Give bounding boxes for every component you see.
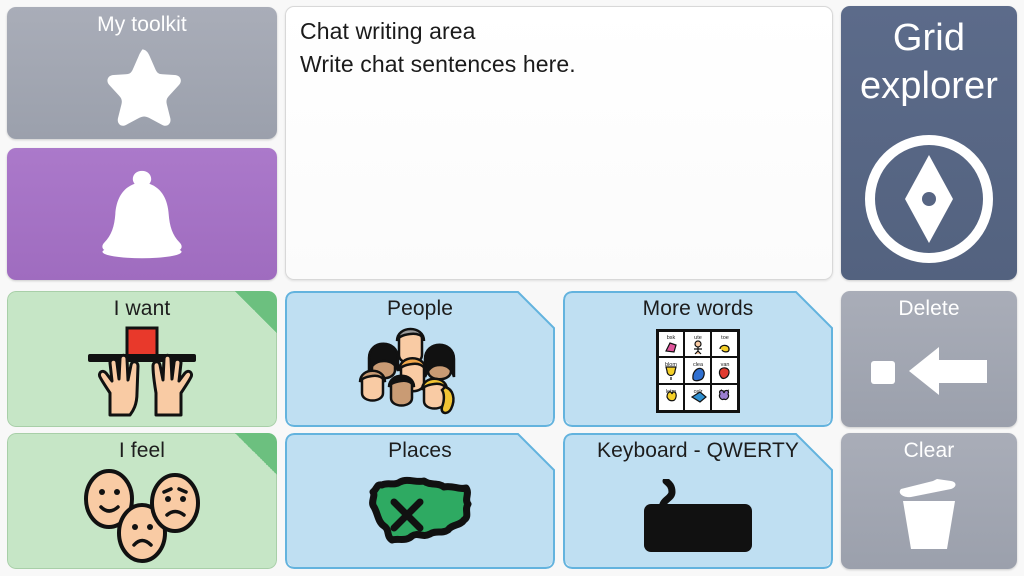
keyboard-icon (563, 471, 833, 563)
cell-label-delete: Delete (841, 296, 1017, 322)
cell-label-places: Places (285, 438, 555, 464)
compass-icon (841, 124, 1017, 274)
svg-text:ute: ute (694, 335, 702, 341)
cell-delete[interactable]: Delete (841, 291, 1017, 427)
cell-clear[interactable]: Clear (841, 433, 1017, 569)
cell-more-words[interactable]: More words bskutetoe blomcleavan letmoxl… (563, 291, 833, 427)
cell-keyboard-qwerty[interactable]: Keyboard - QWERTY (563, 433, 833, 569)
trash-bin-icon (841, 467, 1017, 559)
cell-label-grid-explorer-line1: Grid (841, 14, 1017, 62)
cell-i-want[interactable]: I want (7, 291, 277, 427)
cell-label-grid-explorer-line2: explorer (841, 62, 1017, 110)
cell-places[interactable]: Places (285, 433, 555, 569)
cell-label-more-words: More words (563, 296, 833, 322)
chat-text: Write chat sentences here. (300, 48, 818, 81)
cell-grid-explorer[interactable]: Grid explorer (841, 6, 1017, 280)
aac-grid-page: My toolkit Chat writing area Write chat … (0, 0, 1024, 576)
chat-title: Chat writing area (300, 15, 818, 48)
want-hands-icon (7, 321, 277, 421)
people-faces-icon (285, 319, 555, 423)
cell-i-feel[interactable]: I feel (7, 433, 277, 569)
grid-3x3-icon: bskutetoe blomcleavan letmoxlrlovt (563, 325, 833, 417)
svg-text:bsk: bsk (667, 335, 676, 341)
cell-label-clear: Clear (841, 438, 1017, 464)
map-x-icon (285, 465, 555, 561)
cell-alert-bell[interactable] (7, 148, 277, 280)
cell-label-keyboard-qwerty: Keyboard - QWERTY (563, 438, 833, 464)
cell-label-i-want: I want (7, 296, 277, 322)
cell-people[interactable]: People (285, 291, 555, 427)
svg-text:clea: clea (693, 362, 704, 368)
cell-label-my-toolkit: My toolkit (7, 12, 277, 38)
star-icon (7, 37, 277, 137)
feelings-faces-icon (7, 461, 277, 565)
bell-icon (7, 160, 277, 270)
cell-my-toolkit[interactable]: My toolkit (7, 7, 277, 139)
backspace-icon (841, 329, 1017, 413)
svg-text:van: van (721, 362, 730, 368)
chat-writing-area[interactable]: Chat writing area Write chat sentences h… (285, 6, 833, 280)
svg-text:toe: toe (721, 335, 729, 341)
